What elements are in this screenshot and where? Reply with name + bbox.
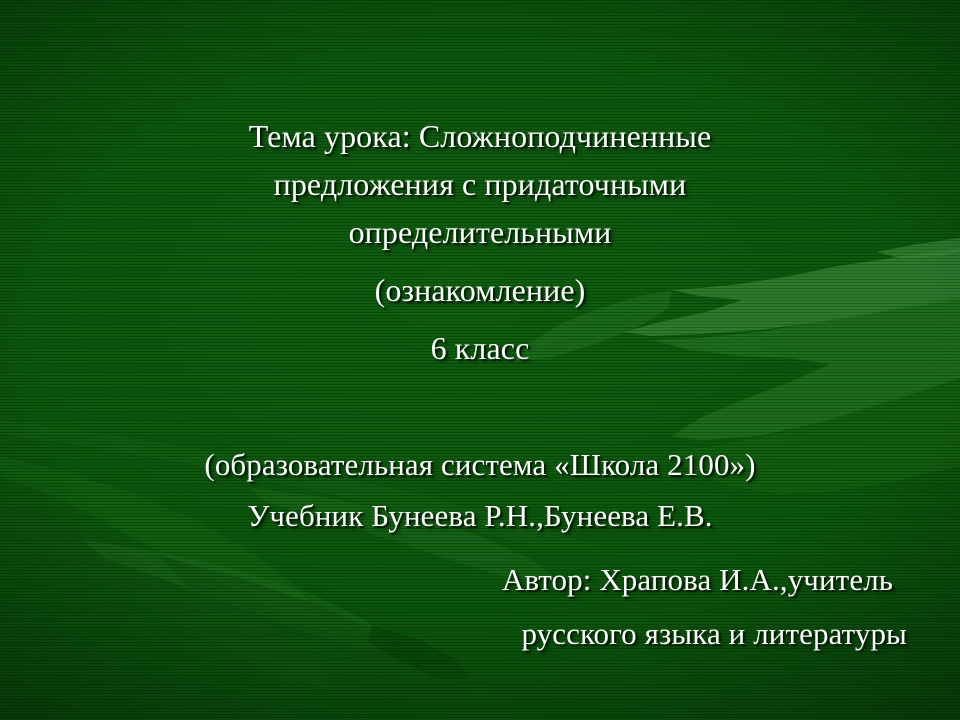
lesson-title-line-2: предложения с придаточными <box>0 166 960 203</box>
lesson-grade-level: 6 класс <box>0 330 960 367</box>
textbook-line: Учебник Бунеева Р.Н.,Бунеева Е.В. <box>0 498 960 534</box>
author-subject-line: русского языка и литературы <box>0 616 907 652</box>
presentation-slide: Тема урока: Сложноподчиненные предложени… <box>0 0 960 720</box>
lesson-subtitle-note: (ознакомление) <box>0 272 960 309</box>
lesson-title-line-3: определительными <box>0 214 960 251</box>
author-name-line: Автор: Храпова И.А.,учитель <box>0 562 893 598</box>
educational-system-line: (образовательная система «Школа 2100») <box>0 447 960 483</box>
slide-content: Тема урока: Сложноподчиненные предложени… <box>0 0 960 720</box>
lesson-title-line-1: Тема урока: Сложноподчиненные <box>0 118 960 155</box>
